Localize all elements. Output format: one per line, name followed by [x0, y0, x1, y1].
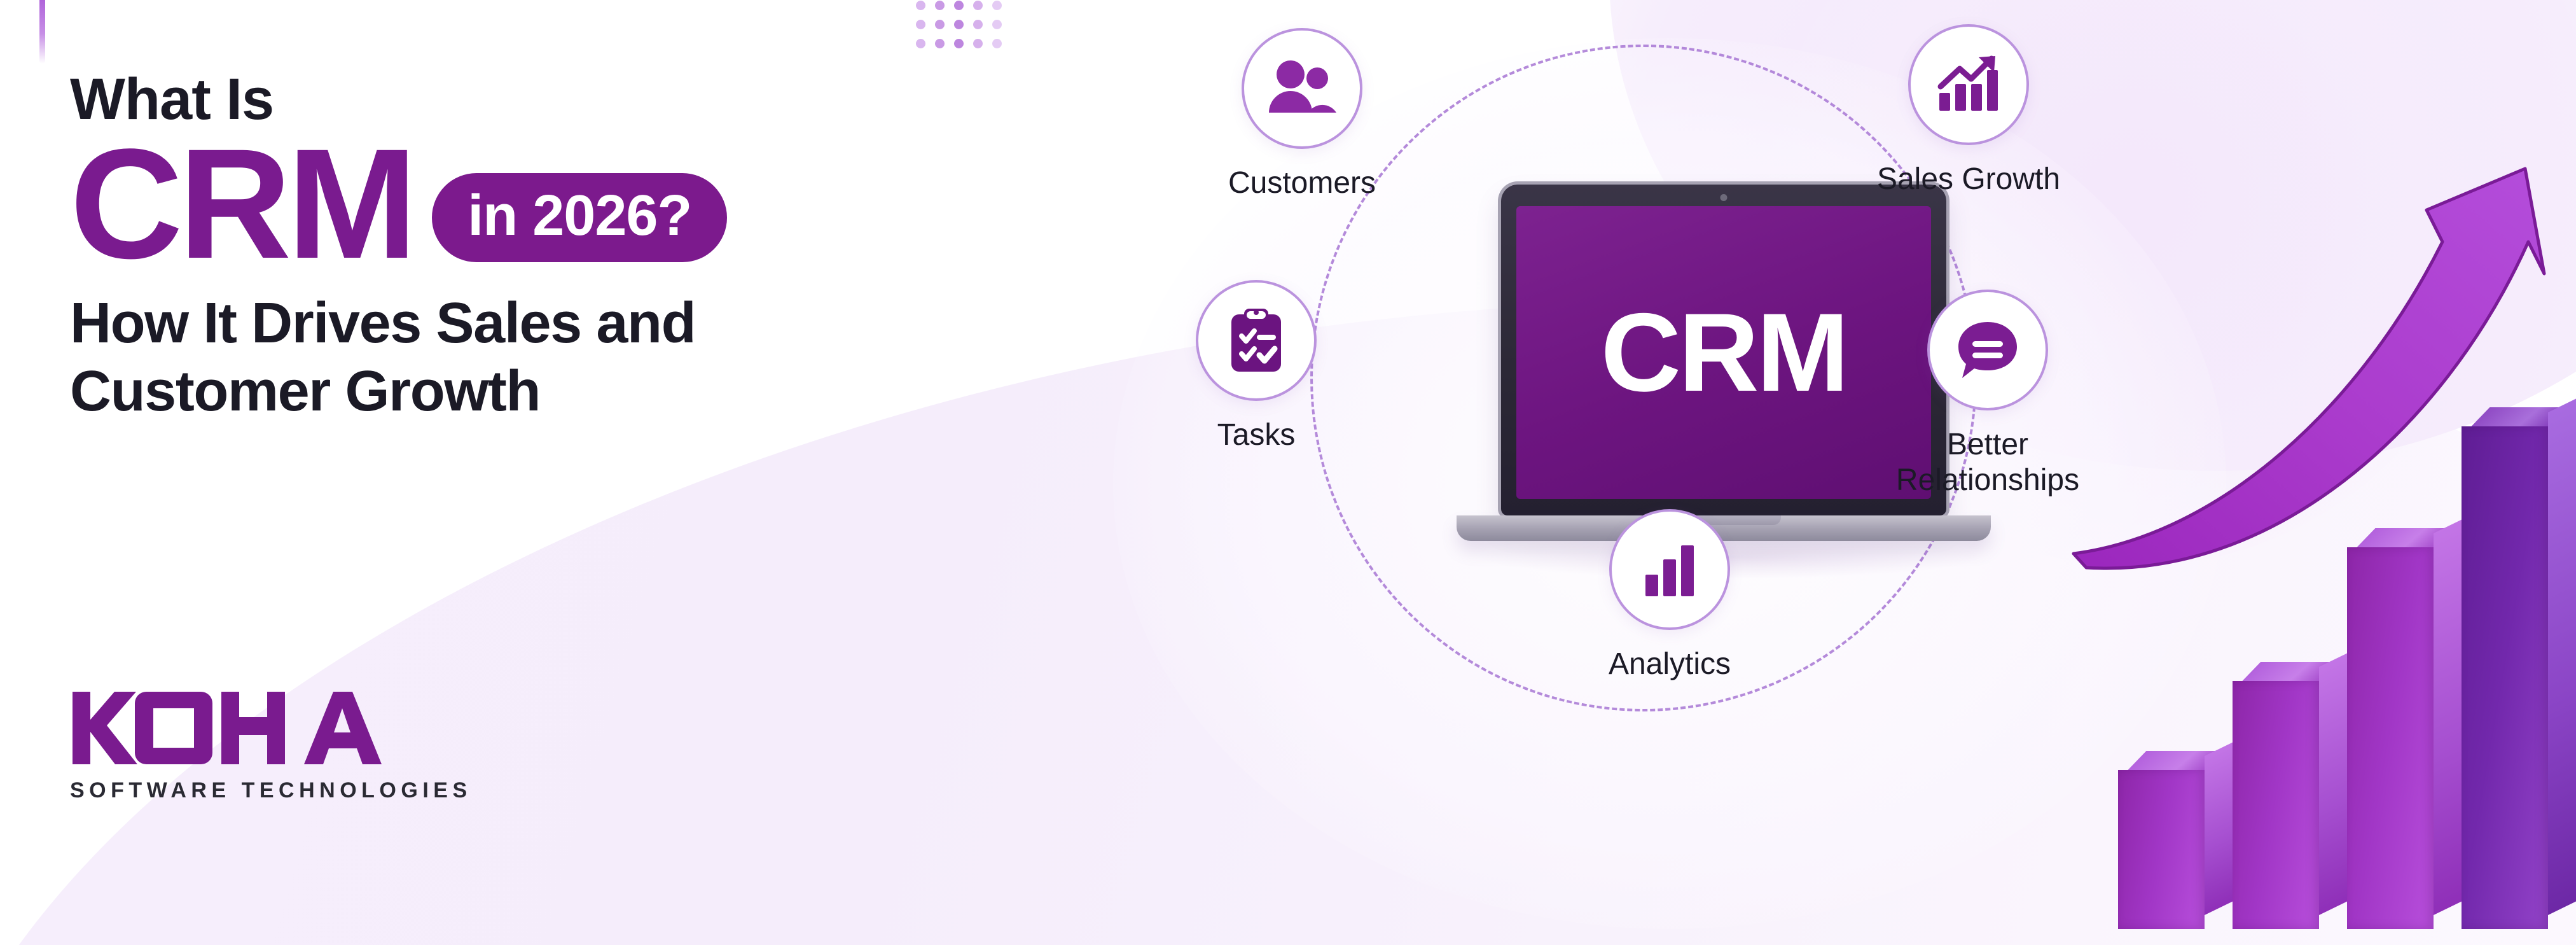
customers-label: Customers [1197, 165, 1407, 201]
feature-node-tasks[interactable]: Tasks [1151, 280, 1361, 453]
feature-node-analytics[interactable]: Analytics [1565, 509, 1775, 682]
logo-wordmark [70, 690, 472, 767]
relationships-bubble [1927, 290, 2048, 410]
chat-bubble-icon [1955, 318, 2021, 382]
logo-tagline: SOFTWARE TECHNOLOGIES [70, 778, 472, 803]
year-badge: in 2026? [432, 173, 727, 262]
growth-bar-chart [2118, 76, 2563, 929]
crm-illustration: CRM Customers [1119, 0, 2576, 945]
tasks-bubble [1196, 280, 1317, 401]
headline-keyword: CRM [70, 132, 413, 276]
people-icon [1268, 59, 1336, 118]
headline-block: What Is CRM in 2026? How It Drives Sales… [70, 70, 1062, 424]
logo-wordmark-svg [70, 689, 401, 767]
chart-bar-3 [2347, 547, 2434, 929]
webcam-icon [1721, 194, 1728, 201]
headline-subhead-line2: Customer Growth [70, 358, 948, 424]
bar-chart-icon [1639, 539, 1700, 600]
sales-growth-bubble [1908, 24, 2029, 145]
screen-crm-label: CRM [1601, 297, 1847, 409]
analytics-label: Analytics [1565, 647, 1775, 682]
chart-bar-2 [2233, 681, 2319, 929]
clipboard-checklist-icon [1228, 307, 1285, 374]
analytics-bubble [1609, 509, 1730, 630]
headline-subhead-line1: How It Drives Sales and [70, 290, 948, 356]
crm-banner: What Is CRM in 2026? How It Drives Sales… [0, 0, 2576, 945]
feature-node-customers[interactable]: Customers [1197, 28, 1407, 201]
accent-bar-top-left [39, 0, 45, 64]
sales-growth-label: Sales Growth [1864, 162, 2074, 197]
laptop-lid: CRM [1501, 185, 1946, 515]
feature-node-sales-growth[interactable]: Sales Growth [1864, 24, 2074, 197]
decorative-dot-grid [911, 0, 1006, 53]
trending-up-chart-icon [1935, 53, 2002, 116]
laptop-screen: CRM [1516, 206, 1931, 499]
customers-bubble [1242, 28, 1362, 149]
koha-logo[interactable]: SOFTWARE TECHNOLOGIES [70, 690, 472, 803]
chart-bar-1 [2118, 770, 2205, 929]
tasks-label: Tasks [1151, 417, 1361, 453]
headline-keyword-row: CRM in 2026? [70, 132, 1062, 276]
chart-bar-4 [2462, 426, 2548, 929]
